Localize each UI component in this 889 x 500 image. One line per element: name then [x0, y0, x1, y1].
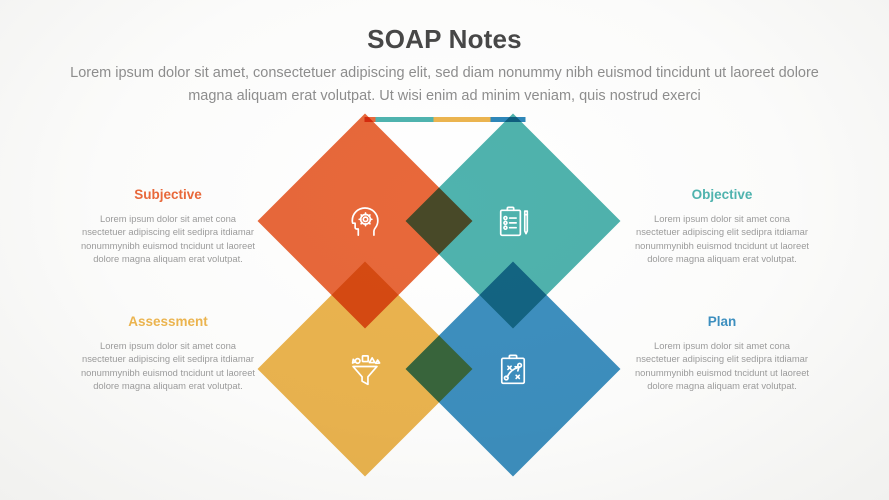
section-heading-subjective: Subjective — [78, 186, 258, 204]
section-plan: Plan Lorem ipsum dolor sit amet cona nse… — [632, 313, 812, 393]
divider-segment-amber — [433, 117, 490, 122]
section-objective: Objective Lorem ipsum dolor sit amet con… — [632, 186, 812, 266]
section-body-plan: Lorem ipsum dolor sit amet cona nsectetu… — [632, 339, 812, 393]
section-body-assessment: Lorem ipsum dolor sit amet cona nsectetu… — [78, 339, 258, 393]
diamond-cluster — [287, 143, 597, 448]
header: SOAP Notes Lorem ipsum dolor sit amet, c… — [0, 22, 889, 108]
section-assessment: Assessment Lorem ipsum dolor sit amet co… — [78, 313, 258, 393]
divider — [364, 117, 525, 122]
section-heading-assessment: Assessment — [78, 313, 258, 331]
section-heading-plan: Plan — [632, 313, 812, 331]
divider-segment-teal — [375, 117, 433, 122]
section-heading-objective: Objective — [632, 186, 812, 204]
section-body-objective: Lorem ipsum dolor sit amet cona nsectetu… — [632, 212, 812, 266]
page-title: SOAP Notes — [0, 22, 889, 56]
infographic-canvas: SOAP Notes Lorem ipsum dolor sit amet, c… — [0, 0, 889, 500]
section-body-subjective: Lorem ipsum dolor sit amet cona nsectetu… — [78, 212, 258, 266]
diamond-plan[interactable] — [406, 262, 621, 477]
page-subtitle: Lorem ipsum dolor sit amet, consectetuer… — [65, 62, 825, 108]
section-subjective: Subjective Lorem ipsum dolor sit amet co… — [78, 186, 258, 266]
